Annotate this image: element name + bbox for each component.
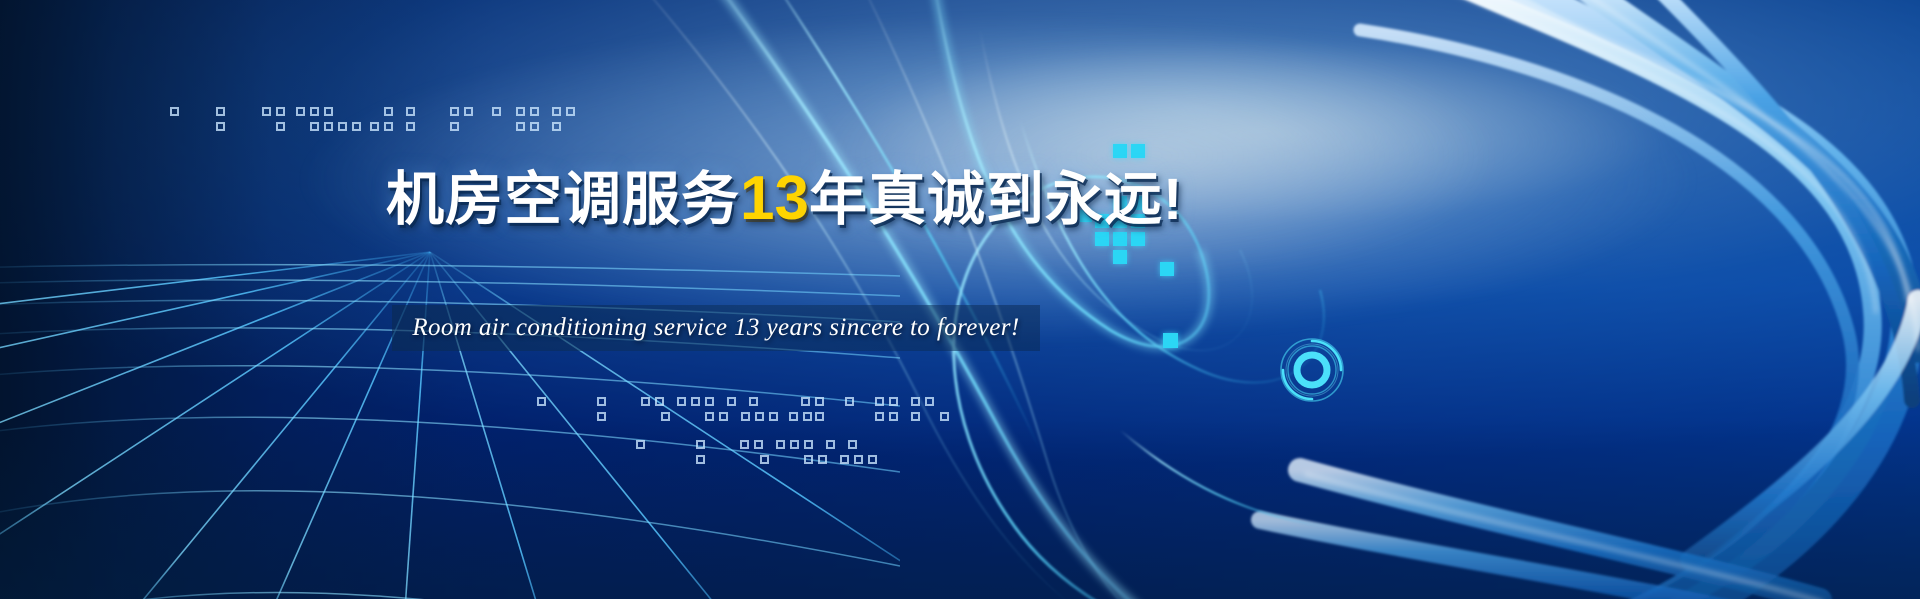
dot-matrix-upper <box>0 0 1920 599</box>
light-haze <box>0 0 1920 599</box>
headline-part2: 年真诚到永远 <box>809 167 1163 232</box>
subtitle-text: Room air conditioning service 13 years s… <box>392 305 1040 351</box>
glowing-tech-ring-icon <box>1278 336 1346 404</box>
light-ribbons <box>0 0 1920 599</box>
headline-highlight-years: 13 <box>740 164 809 233</box>
dot-matrix-lower <box>0 0 1920 599</box>
headline-part1: 机房空调服务 <box>386 167 740 232</box>
cable-loops <box>0 0 1920 599</box>
bottom-vignette <box>0 0 1920 599</box>
cyan-pixel-cluster <box>0 0 1920 599</box>
photo-glow <box>0 0 1920 599</box>
perspective-grid <box>0 0 1920 599</box>
page-title: 机房空调服务13年真诚到永远! <box>386 168 1183 230</box>
headline-exclamation: ! <box>1163 167 1183 232</box>
background-gradient <box>0 0 1920 599</box>
left-vignette <box>0 0 1920 599</box>
hero-banner: 机房空调服务13年真诚到永远! Room air conditioning se… <box>0 0 1920 599</box>
